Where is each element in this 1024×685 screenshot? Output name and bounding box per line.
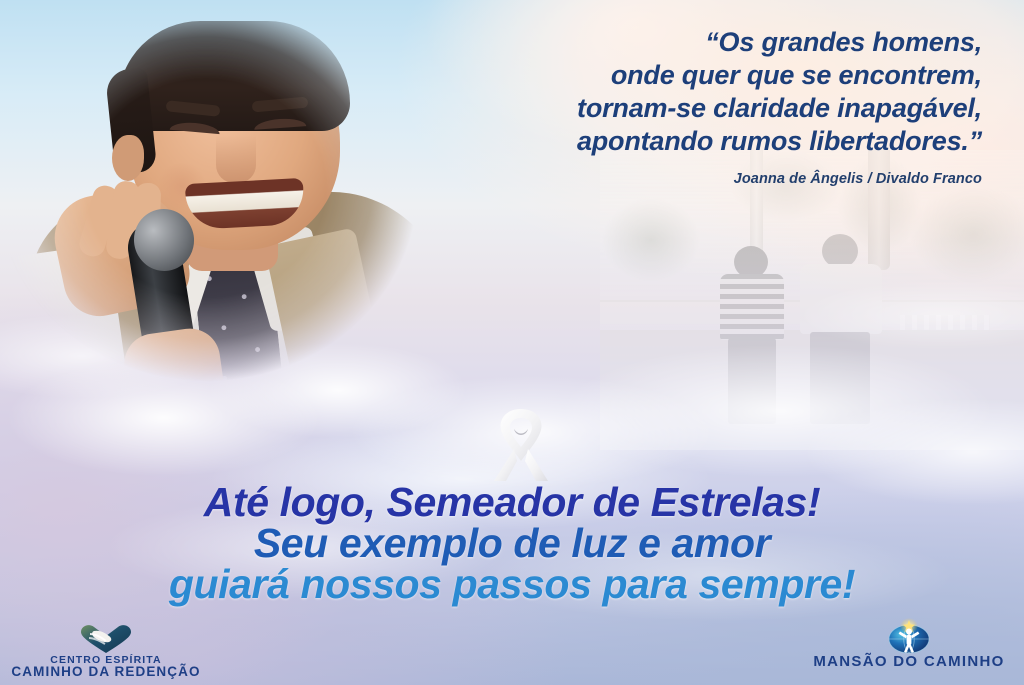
- portrait-hair: [118, 21, 350, 131]
- portrait-nose: [216, 135, 256, 183]
- quote-line-2: onde quer que se encontrem,: [442, 59, 982, 92]
- quote-attribution: Joanna de Ângelis / Divaldo Franco: [442, 171, 982, 187]
- memorial-poster: “Os grandes homens, onde quer que se enc…: [0, 0, 1024, 685]
- portrait-divaldo-franco: [0, 0, 460, 415]
- headline-line-1: Até logo, Semeador de Estrelas!: [0, 482, 1024, 523]
- headline-block: Até logo, Semeador de Estrelas! Seu exem…: [0, 482, 1024, 605]
- quote-line-4: apontando rumos libertadores.”: [442, 125, 982, 158]
- headline-line-2: Seu exemplo de luz e amor: [0, 523, 1024, 564]
- quote-line-1: “Os grandes homens,: [442, 26, 982, 59]
- logo-mansao-do-caminho[interactable]: MANSÃO DO CAMINHO: [804, 618, 1014, 668]
- logo-centro-espirita[interactable]: CENTRO ESPÍRITA CAMINHO DA REDENÇÃO: [8, 624, 204, 678]
- quote-line-3: tornam-se claridade inapagável,: [442, 92, 982, 125]
- headline-line-3: guiará nossos passos para sempre!: [0, 564, 1024, 605]
- globe-figure-icon: [884, 618, 934, 654]
- logo-left-line-2: CAMINHO DA REDENÇÃO: [8, 666, 204, 678]
- logo-right-line-1: MANSÃO DO CAMINHO: [804, 656, 1014, 668]
- heart-hands-icon: [80, 624, 132, 654]
- portrait-ear: [112, 135, 144, 181]
- mourning-ribbon-icon: [484, 405, 558, 485]
- portrait-hand-holding-microphone: [120, 325, 227, 424]
- quote-block: “Os grandes homens, onde quer que se enc…: [442, 26, 982, 187]
